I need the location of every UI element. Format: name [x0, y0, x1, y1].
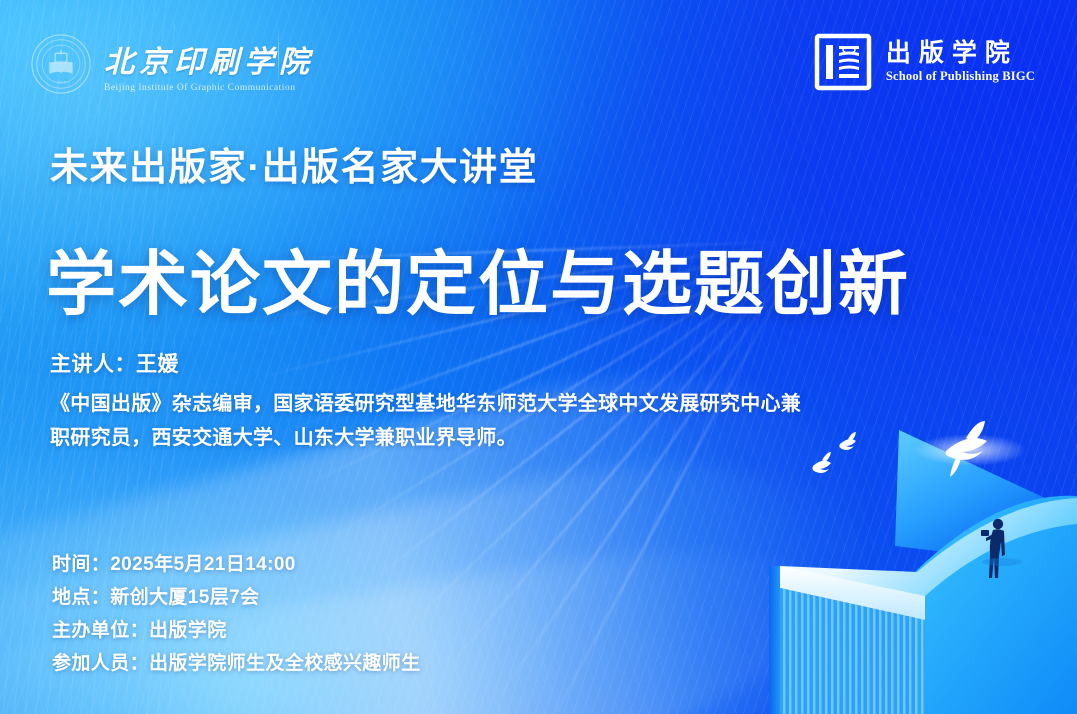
school-logo: 出版学院 School of Publishing BIGC	[814, 33, 1035, 91]
header-divider	[278, 28, 279, 82]
meta-location: 地点：新创大厦15层7会	[52, 581, 421, 614]
svg-text:1958: 1958	[56, 79, 66, 84]
dove-small-icon	[839, 432, 856, 450]
speaker-block: 主讲人：王媛 《中国出版》杂志编审，国家语委研究型基地华东师范大学全球中文发展研…	[50, 348, 810, 455]
meta-attendees: 参加人员：出版学院师生及全校感兴趣师生	[52, 647, 421, 680]
dove-small-icon	[812, 452, 831, 473]
university-logo: 1958 北京印刷学院 Beijing Institute Of Graphic…	[30, 33, 314, 95]
book-platform-illustration	[747, 414, 1077, 714]
speaker-bio: 《中国出版》杂志编审，国家语委研究型基地华东师范大学全球中文发展研究中心兼职研究…	[50, 387, 810, 455]
bigc-seal-icon: 1958	[30, 33, 92, 95]
school-of-publishing-mark-icon	[814, 33, 872, 91]
university-name-en: Beijing Institute Of Graphic Communicati…	[104, 83, 314, 93]
school-name-cn: 出版学院	[886, 40, 1018, 68]
meta-organizer: 主办单位：出版学院	[52, 614, 421, 647]
meta-time: 时间：2025年5月21日14:00	[52, 548, 421, 581]
university-name-cn: 北京印刷学院	[104, 37, 314, 81]
speaker-name: 主讲人：王媛	[50, 348, 810, 378]
event-meta-block: 时间：2025年5月21日14:00 地点：新创大厦15层7会 主办单位：出版学…	[52, 548, 421, 680]
series-kicker: 未来出版家·出版名家大讲堂	[50, 136, 538, 191]
school-name-en: School of Publishing BIGC	[886, 69, 1035, 84]
lecture-title: 学术论文的定位与选题创新	[46, 228, 910, 329]
poster-canvas: 1958 北京印刷学院 Beijing Institute Of Graphic…	[0, 0, 1077, 714]
